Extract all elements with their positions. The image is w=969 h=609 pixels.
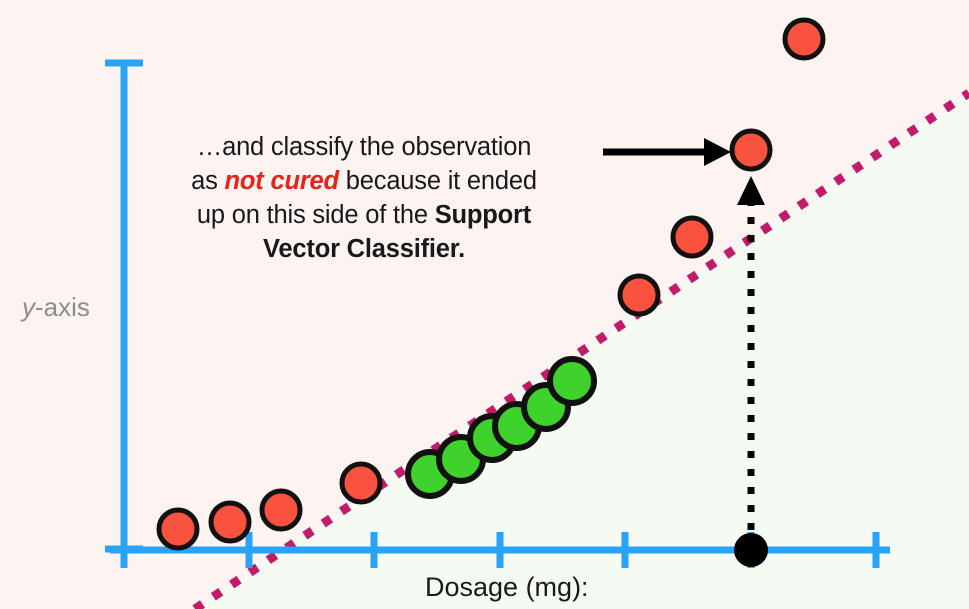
annotation-line-2-prefix: as <box>191 167 224 195</box>
data-point-red <box>673 218 711 256</box>
y-axis-label-variable: y <box>22 292 35 322</box>
data-point-red <box>159 510 197 548</box>
data-point-red <box>342 464 380 502</box>
data-point-green <box>550 359 594 403</box>
data-point-red <box>732 131 770 169</box>
annotation-line-2-suffix: because it ended <box>339 167 537 195</box>
data-point-red <box>211 503 249 541</box>
y-axis-label-text: -axis <box>35 292 90 322</box>
annotation-callout: …and classify the observationas not cure… <box>136 130 592 266</box>
annotation-emphasis-not-cured: not cured <box>225 167 339 195</box>
new-observation-point <box>734 533 768 567</box>
plot-svg <box>0 0 969 609</box>
chart-canvas: …and classify the observationas not cure… <box>0 0 969 609</box>
annotation-emphasis-vector-classifier: Vector Classifier <box>263 235 458 263</box>
data-point-red <box>262 491 300 529</box>
y-axis-label: y-axis <box>22 292 90 323</box>
annotation-line-4-suffix: . <box>458 235 465 263</box>
annotation-line-3-prefix: up on this side of the <box>197 201 435 229</box>
x-axis-label: Dosage (mg): <box>425 572 589 603</box>
data-point-red <box>785 20 823 58</box>
annotation-line-1: …and classify the observation <box>197 133 531 161</box>
data-point-red <box>620 276 658 314</box>
annotation-emphasis-support: Support <box>435 201 531 229</box>
